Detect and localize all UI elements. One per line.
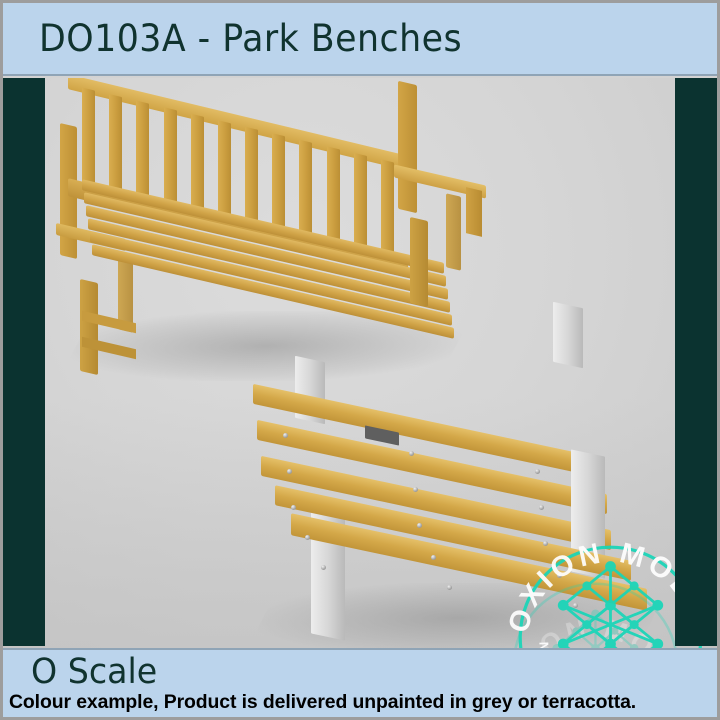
bench-back-post-right: [398, 81, 417, 214]
bolt-head: [447, 585, 452, 590]
accent-bar-right: [675, 78, 717, 646]
accent-bar-left: [3, 78, 45, 646]
bolt-head: [283, 433, 288, 438]
disclaimer-text: Colour example, Product is delivered unp…: [9, 691, 711, 714]
bolt-head: [557, 573, 562, 578]
bench-back-slat: [218, 120, 231, 223]
bolt-head: [535, 469, 540, 474]
bench-leg-front-left: [80, 279, 98, 375]
footer-band: O Scale Colour example, Product is deliv…: [3, 648, 717, 717]
product-image-card: DO103A - Park Benches: [0, 0, 720, 720]
bolt-head: [431, 555, 436, 560]
bolt-head: [409, 451, 414, 456]
bench-back-slat: [82, 88, 95, 191]
product-photo: INOXION MODELS PRINT · BUILD · PAINT · R…: [3, 78, 717, 648]
bolt-head: [543, 541, 548, 546]
bench-back-slat: [164, 107, 177, 210]
bench-back-slat: [109, 94, 122, 197]
bench-leg-front-right: [410, 217, 428, 307]
bolt-head: [413, 487, 418, 492]
bolt-head: [321, 565, 326, 570]
plank-bench-concrete-legs: [253, 333, 673, 648]
bolt-head: [287, 469, 292, 474]
bolt-head: [417, 523, 422, 528]
bench-back-slat: [245, 127, 258, 230]
page-title: DO103A - Park Benches: [39, 17, 462, 60]
header-band: DO103A - Park Benches: [3, 3, 717, 76]
bolt-head: [573, 603, 578, 608]
bolt-head: [539, 505, 544, 510]
scale-label: O Scale: [31, 652, 157, 692]
concrete-support-back-right: [553, 302, 583, 368]
bench-back-slat: [136, 101, 149, 204]
bolt-head: [305, 535, 310, 540]
bench-back-slat: [191, 114, 204, 217]
bolt-head: [291, 505, 296, 510]
